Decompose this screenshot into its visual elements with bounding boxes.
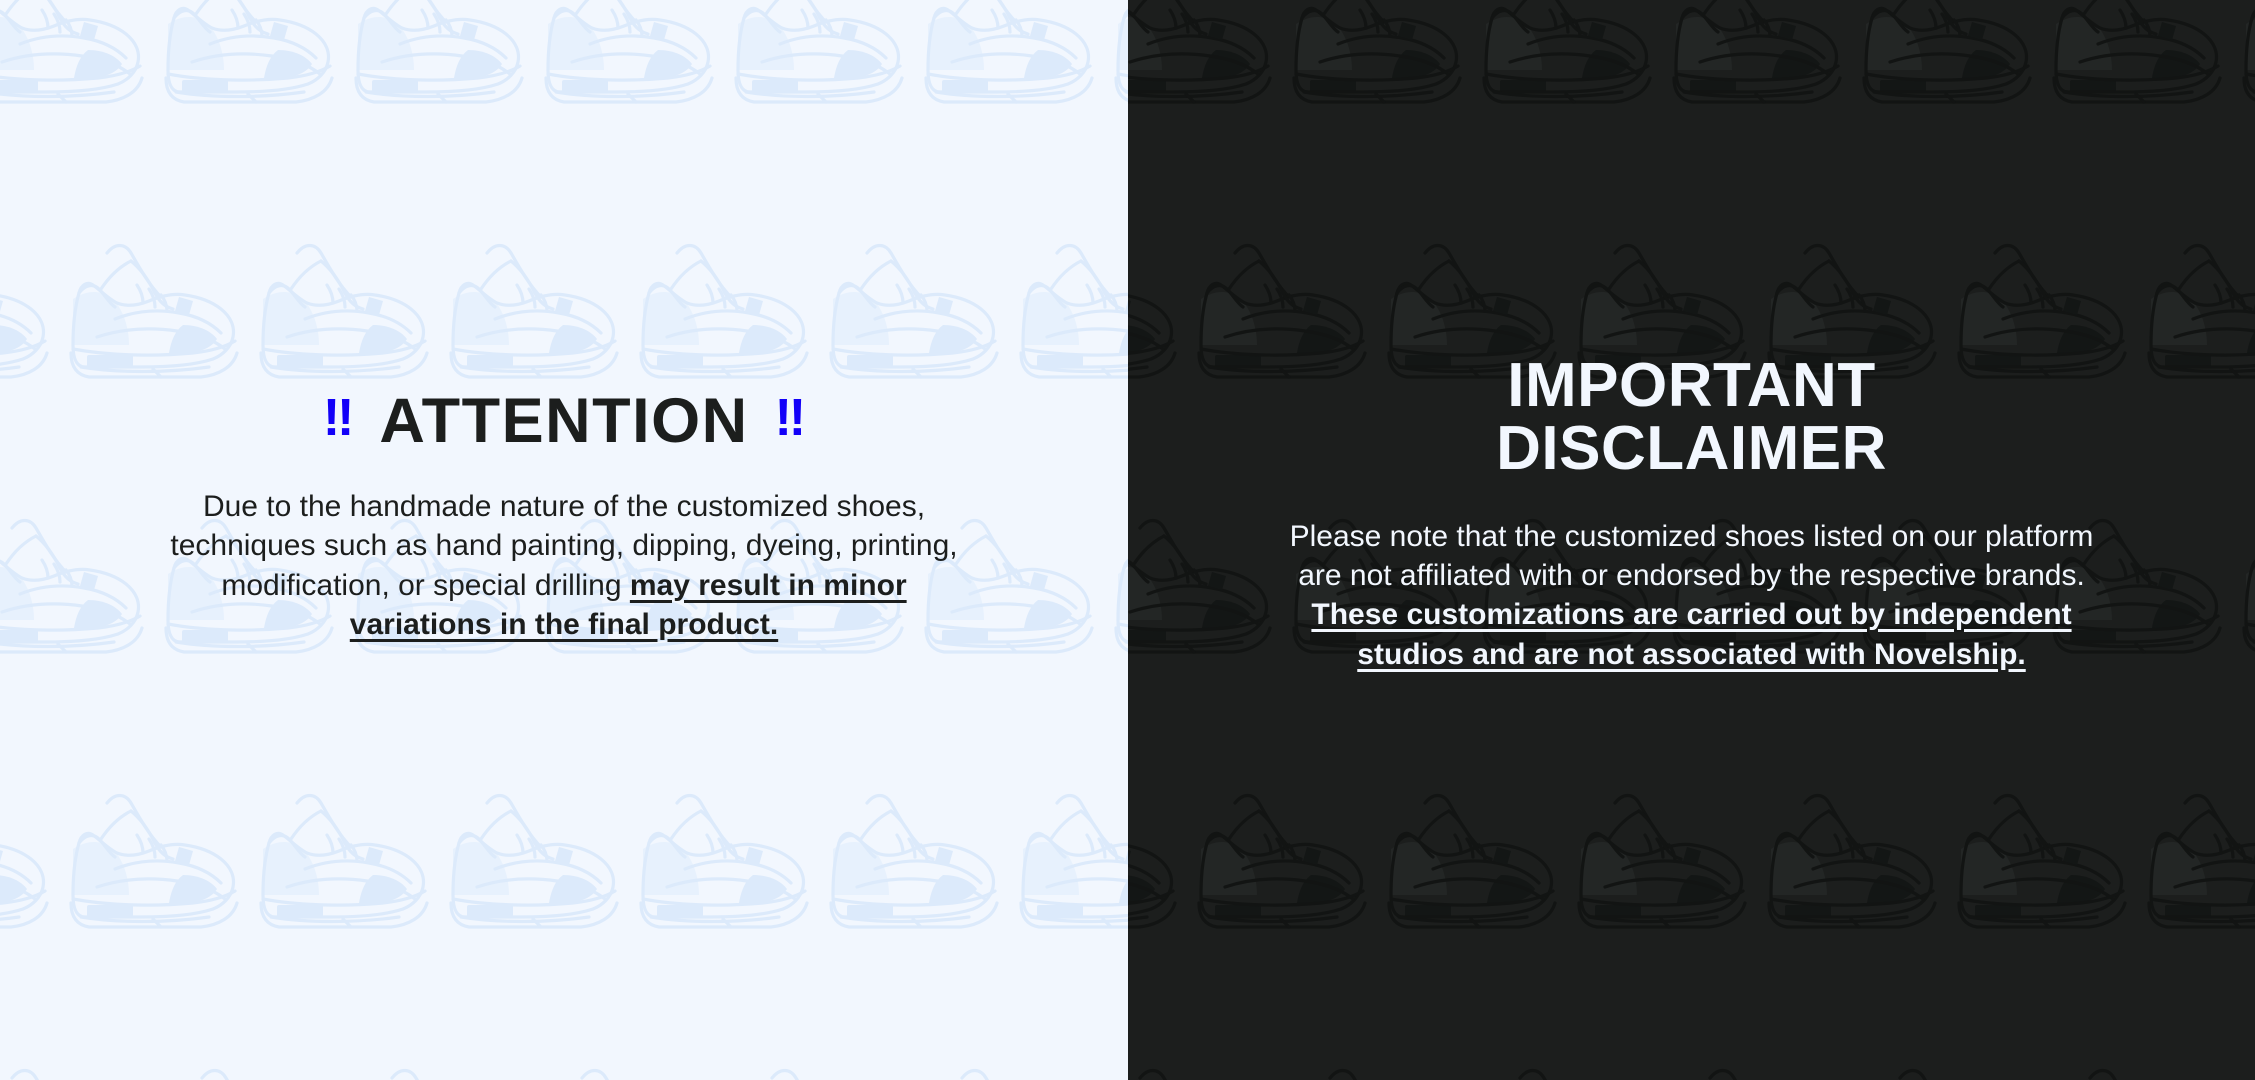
sneaker-icon bbox=[1753, 765, 1943, 955]
disclaimer-content: IMPORTANT DISCLAIMER Please note that th… bbox=[1264, 354, 2119, 674]
sneaker-icon bbox=[245, 215, 435, 405]
attention-body: Due to the handmade nature of the custom… bbox=[164, 487, 964, 644]
sneaker-icon bbox=[1128, 215, 1183, 405]
sneaker-icon bbox=[1100, 1040, 1128, 1080]
sneaker-icon bbox=[1468, 0, 1658, 130]
sneaker-icon bbox=[340, 0, 530, 130]
sneaker-icon bbox=[1658, 1040, 1848, 1080]
attention-content: ‼ ATTENTION ‼ Due to the handmade nature… bbox=[164, 390, 964, 644]
sneaker-pattern-row bbox=[0, 1040, 1128, 1080]
sneaker-icon bbox=[2038, 0, 2228, 130]
sneaker-icon bbox=[1128, 0, 1278, 130]
sneaker-icon bbox=[1658, 0, 1848, 130]
sneaker-icon bbox=[0, 0, 150, 130]
sneaker-icon bbox=[815, 215, 1005, 405]
disclaimer-body: Please note that the customized shoes li… bbox=[1264, 517, 2119, 674]
sneaker-icon bbox=[1563, 765, 1753, 955]
sneaker-icon bbox=[435, 765, 625, 955]
sneaker-pattern-row bbox=[0, 0, 1128, 215]
attention-heading: ‼ ATTENTION ‼ bbox=[164, 390, 964, 453]
sneaker-icon bbox=[0, 490, 150, 680]
attention-heading-text: ATTENTION bbox=[379, 390, 748, 453]
sneaker-icon bbox=[625, 215, 815, 405]
sneaker-pattern-row bbox=[0, 765, 1128, 1040]
disclaimer-heading: IMPORTANT DISCLAIMER bbox=[1264, 354, 2119, 480]
sneaker-icon bbox=[815, 765, 1005, 955]
sneaker-icon bbox=[0, 1040, 150, 1080]
sneaker-icon bbox=[720, 1040, 910, 1080]
sneaker-icon bbox=[720, 0, 910, 130]
sneaker-pattern-row bbox=[1128, 0, 2255, 215]
sneaker-icon bbox=[1005, 765, 1128, 955]
sneaker-icon bbox=[910, 0, 1100, 130]
sneaker-icon bbox=[1128, 1040, 1278, 1080]
sneaker-icon bbox=[1128, 765, 1183, 955]
sneaker-icon bbox=[2133, 215, 2255, 405]
disclaimer-body-emphasis: These customizations are carried out by … bbox=[1311, 598, 2071, 670]
sneaker-icon bbox=[2228, 1040, 2255, 1080]
sneaker-icon bbox=[910, 1040, 1100, 1080]
sneaker-icon bbox=[1100, 0, 1128, 130]
sneaker-icon bbox=[340, 1040, 530, 1080]
disclaimer-heading-line-1: IMPORTANT bbox=[1507, 351, 1875, 420]
sneaker-icon bbox=[1278, 0, 1468, 130]
sneaker-icon bbox=[530, 0, 720, 130]
sneaker-pattern-row bbox=[1128, 765, 2255, 1040]
sneaker-icon bbox=[625, 765, 815, 955]
sneaker-icon bbox=[0, 215, 55, 405]
sneaker-icon bbox=[435, 215, 625, 405]
sneaker-icon bbox=[2228, 0, 2255, 130]
sneaker-icon bbox=[2038, 1040, 2228, 1080]
sneaker-pattern-row bbox=[1128, 1040, 2255, 1080]
double-exclamation-left-icon: ‼ bbox=[323, 392, 353, 444]
sneaker-icon bbox=[1373, 765, 1563, 955]
sneaker-icon bbox=[1005, 215, 1128, 405]
sneaker-icon bbox=[1183, 765, 1373, 955]
disclaimer-heading-line-2: DISCLAIMER bbox=[1496, 414, 1887, 483]
sneaker-icon bbox=[1848, 1040, 2038, 1080]
sneaker-icon bbox=[530, 1040, 720, 1080]
sneaker-icon bbox=[150, 1040, 340, 1080]
sneaker-icon bbox=[55, 215, 245, 405]
sneaker-icon bbox=[245, 765, 435, 955]
sneaker-icon bbox=[2228, 490, 2255, 680]
sneaker-icon bbox=[1468, 1040, 1658, 1080]
sneaker-icon bbox=[1848, 0, 2038, 130]
double-exclamation-right-icon: ‼ bbox=[775, 392, 805, 444]
sneaker-icon bbox=[150, 0, 340, 130]
disclaimer-body-normal: Please note that the customized shoes li… bbox=[1290, 520, 2094, 592]
sneaker-icon bbox=[55, 765, 245, 955]
sneaker-icon bbox=[1100, 490, 1128, 680]
sneaker-icon bbox=[1128, 490, 1278, 680]
disclaimer-panel: IMPORTANT DISCLAIMER Please note that th… bbox=[1128, 0, 2255, 1080]
sneaker-icon bbox=[2133, 765, 2255, 955]
sneaker-icon bbox=[0, 765, 55, 955]
sneaker-icon bbox=[1943, 765, 2133, 955]
attention-panel: ‼ ATTENTION ‼ Due to the handmade nature… bbox=[0, 0, 1128, 1080]
sneaker-icon bbox=[1278, 1040, 1468, 1080]
